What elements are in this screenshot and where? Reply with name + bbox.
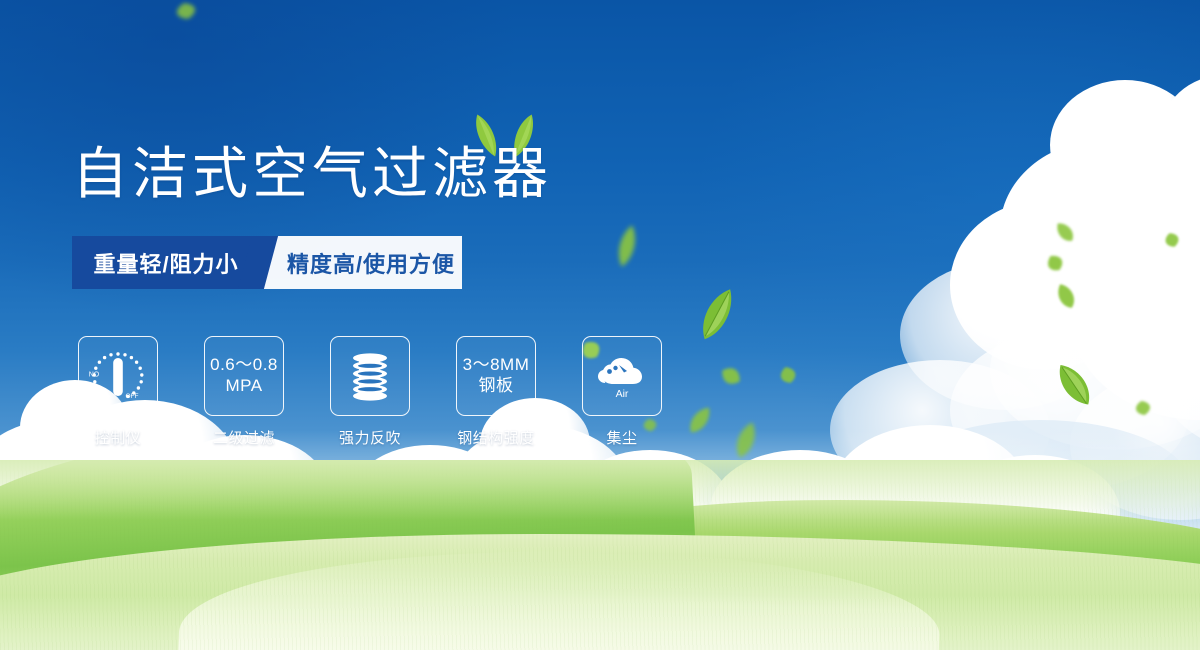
gauge-off-label: OFF [126,393,139,400]
feature-icon-box: 3〜8MM 钢板 [456,336,536,416]
product-banner: 自洁式空气过滤器 重量轻/阻力小 精度高/使用方便 [0,0,1200,650]
feature-box-text: 3〜8MM 钢板 [463,355,530,396]
cloud-air-label: Air [616,388,629,400]
tagline-left: 重量轻/阻力小 [72,236,258,289]
gauge-on-label: NO [89,372,100,379]
feature-list: NO OFF 控制仪 0.6〜0.8 MPA 二级过滤 [78,336,662,448]
feature-item[interactable]: 强力反吹 [330,336,410,448]
feature-item[interactable]: 0.6〜0.8 MPA 二级过滤 [204,336,284,448]
feature-icon-box: Air [582,336,662,416]
feature-caption: 钢结构强度 [442,427,550,448]
feature-caption: 控制仪 [78,427,158,448]
feature-item[interactable]: Air 集尘 [582,336,662,448]
filter-coil-icon [337,343,403,409]
feature-caption: 集尘 [582,427,662,448]
tagline-right: 精度高/使用方便 [258,236,462,289]
grass-field [0,460,1200,650]
feature-caption: 二级过滤 [204,427,284,448]
tagline-bar: 重量轻/阻力小 精度高/使用方便 [72,236,462,289]
feature-caption: 强力反吹 [330,427,410,448]
feature-item[interactable]: NO OFF 控制仪 [78,336,158,448]
grass-highlight [0,460,1200,520]
air-cloud-icon: Air [589,343,655,409]
page-title: 自洁式空气过滤器 [72,146,552,202]
gauge-icon: NO OFF [85,343,151,409]
feature-icon-box: NO OFF [78,336,158,416]
feature-icon-box [330,336,410,416]
feature-box-text: 0.6〜0.8 MPA [210,355,278,396]
feature-icon-box: 0.6〜0.8 MPA [204,336,284,416]
feature-item[interactable]: 3〜8MM 钢板 钢结构强度 [456,336,536,448]
